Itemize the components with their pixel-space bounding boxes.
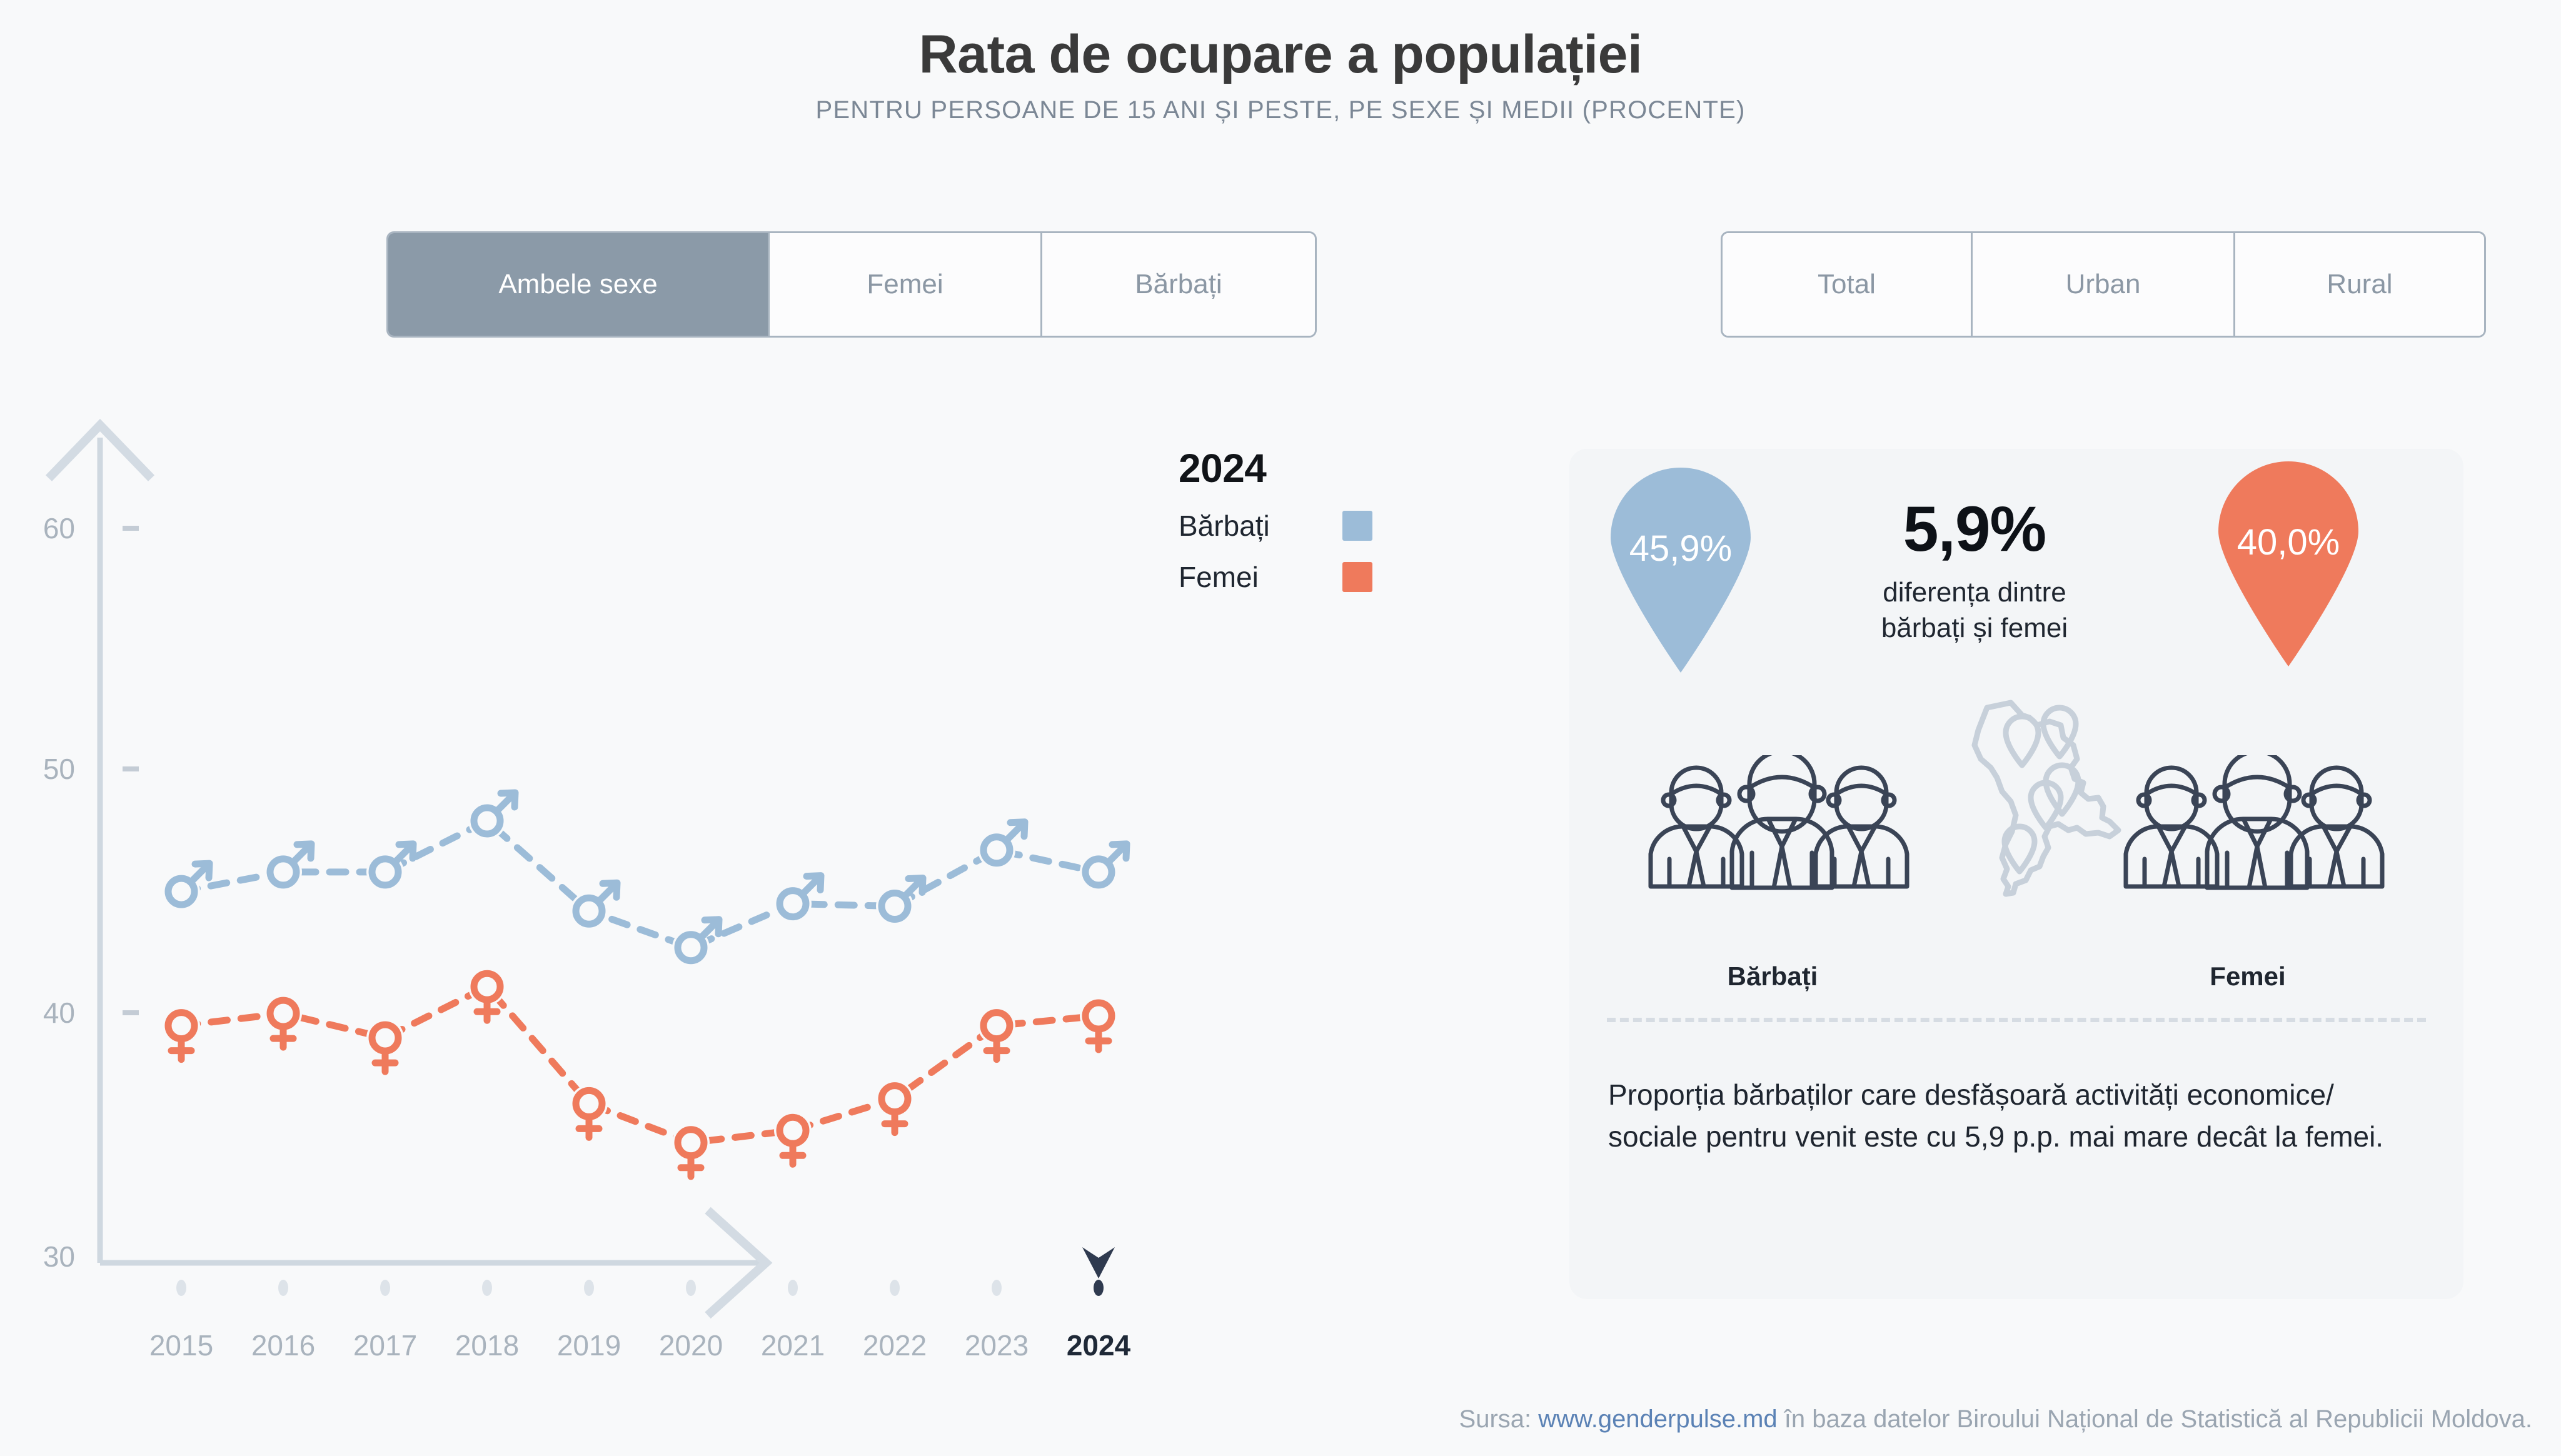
y-tick-50: 50 <box>0 752 75 786</box>
tab-urban[interactable]: Urban <box>1973 233 2235 336</box>
tab-total[interactable]: Total <box>1723 233 1973 336</box>
legend-label-femei: Femei <box>1179 560 1259 594</box>
page-subtitle: PENTRU PERSOANE DE 15 ANI ȘI PESTE, PE S… <box>0 96 2561 124</box>
tab-group-area: Total Urban Rural <box>1721 231 2486 338</box>
page-title: Rata de ocupare a populației <box>0 26 2561 83</box>
legend-item-femei[interactable]: Femei <box>1179 560 1372 594</box>
source-suffix: în baza datelor Biroului Național de Sta… <box>1778 1405 2532 1433</box>
difference-caption-line2: bărbați și femei <box>1881 613 2068 643</box>
women-group-icon <box>2120 755 2388 943</box>
pin-men-shape <box>1606 468 1756 674</box>
difference-caption-line1: diferența dintre <box>1883 577 2066 608</box>
tab-rural[interactable]: Rural <box>2235 233 2484 336</box>
source-footer: Sursa: www.genderpulse.md în baza datelo… <box>0 1405 2561 1433</box>
pin-women-shape <box>2213 461 2363 668</box>
page-header: Rata de ocupare a populației PENTRU PERS… <box>0 0 2561 124</box>
x-tick-2024[interactable]: 2024 <box>1036 1328 1161 1362</box>
chart-legend: 2024 Bărbați Femei <box>1179 445 1441 594</box>
legend-item-barbati[interactable]: Bărbați <box>1179 509 1372 543</box>
y-tick-30: 30 <box>0 1240 75 1273</box>
tab-barbati[interactable]: Bărbați <box>1042 233 1315 336</box>
infographic-page: Rata de ocupare a populației PENTRU PERS… <box>0 0 2561 1456</box>
difference-value: 5,9% <box>1843 493 2106 566</box>
y-tick-40: 40 <box>0 996 75 1030</box>
difference-block: 5,9% diferența dintre bărbați și femei <box>1843 493 2106 646</box>
pin-women-value: 40,0% <box>2237 521 2340 563</box>
tab-ambele-sexe[interactable]: Ambele sexe <box>388 233 770 336</box>
source-link[interactable]: www.genderpulse.md <box>1538 1405 1777 1433</box>
pin-men: 45,9% <box>1606 468 1756 655</box>
pin-women: 40,0% <box>2213 461 2363 649</box>
filter-bar: Ambele sexe Femei Bărbați Total Urban Ru… <box>0 231 2561 338</box>
tab-femei[interactable]: Femei <box>770 233 1042 336</box>
legend-year: 2024 <box>1179 445 1441 491</box>
y-tick-60: 60 <box>0 511 75 545</box>
chevron-down-icon <box>1082 1247 1115 1278</box>
legend-swatch-femei <box>1342 562 1372 592</box>
summary-panel: 45,9% 5,9% diferența dintre bărbați și f… <box>1569 449 2463 1299</box>
difference-caption: diferența dintre bărbați și femei <box>1843 575 2106 646</box>
group-label-women: Femei <box>2135 961 2360 992</box>
panel-divider <box>1607 1018 2426 1022</box>
tab-group-sex: Ambele sexe Femei Bărbați <box>386 231 1317 338</box>
pin-men-value: 45,9% <box>1629 528 1732 570</box>
men-group-icon <box>1644 755 1913 943</box>
group-label-men: Bărbați <box>1660 961 1885 992</box>
source-prefix: Sursa: <box>1459 1405 1539 1433</box>
legend-swatch-barbati <box>1342 511 1372 541</box>
legend-label-barbati: Bărbați <box>1179 509 1270 543</box>
panel-description: Proporția bărbaților care desfășoară act… <box>1608 1074 2421 1157</box>
